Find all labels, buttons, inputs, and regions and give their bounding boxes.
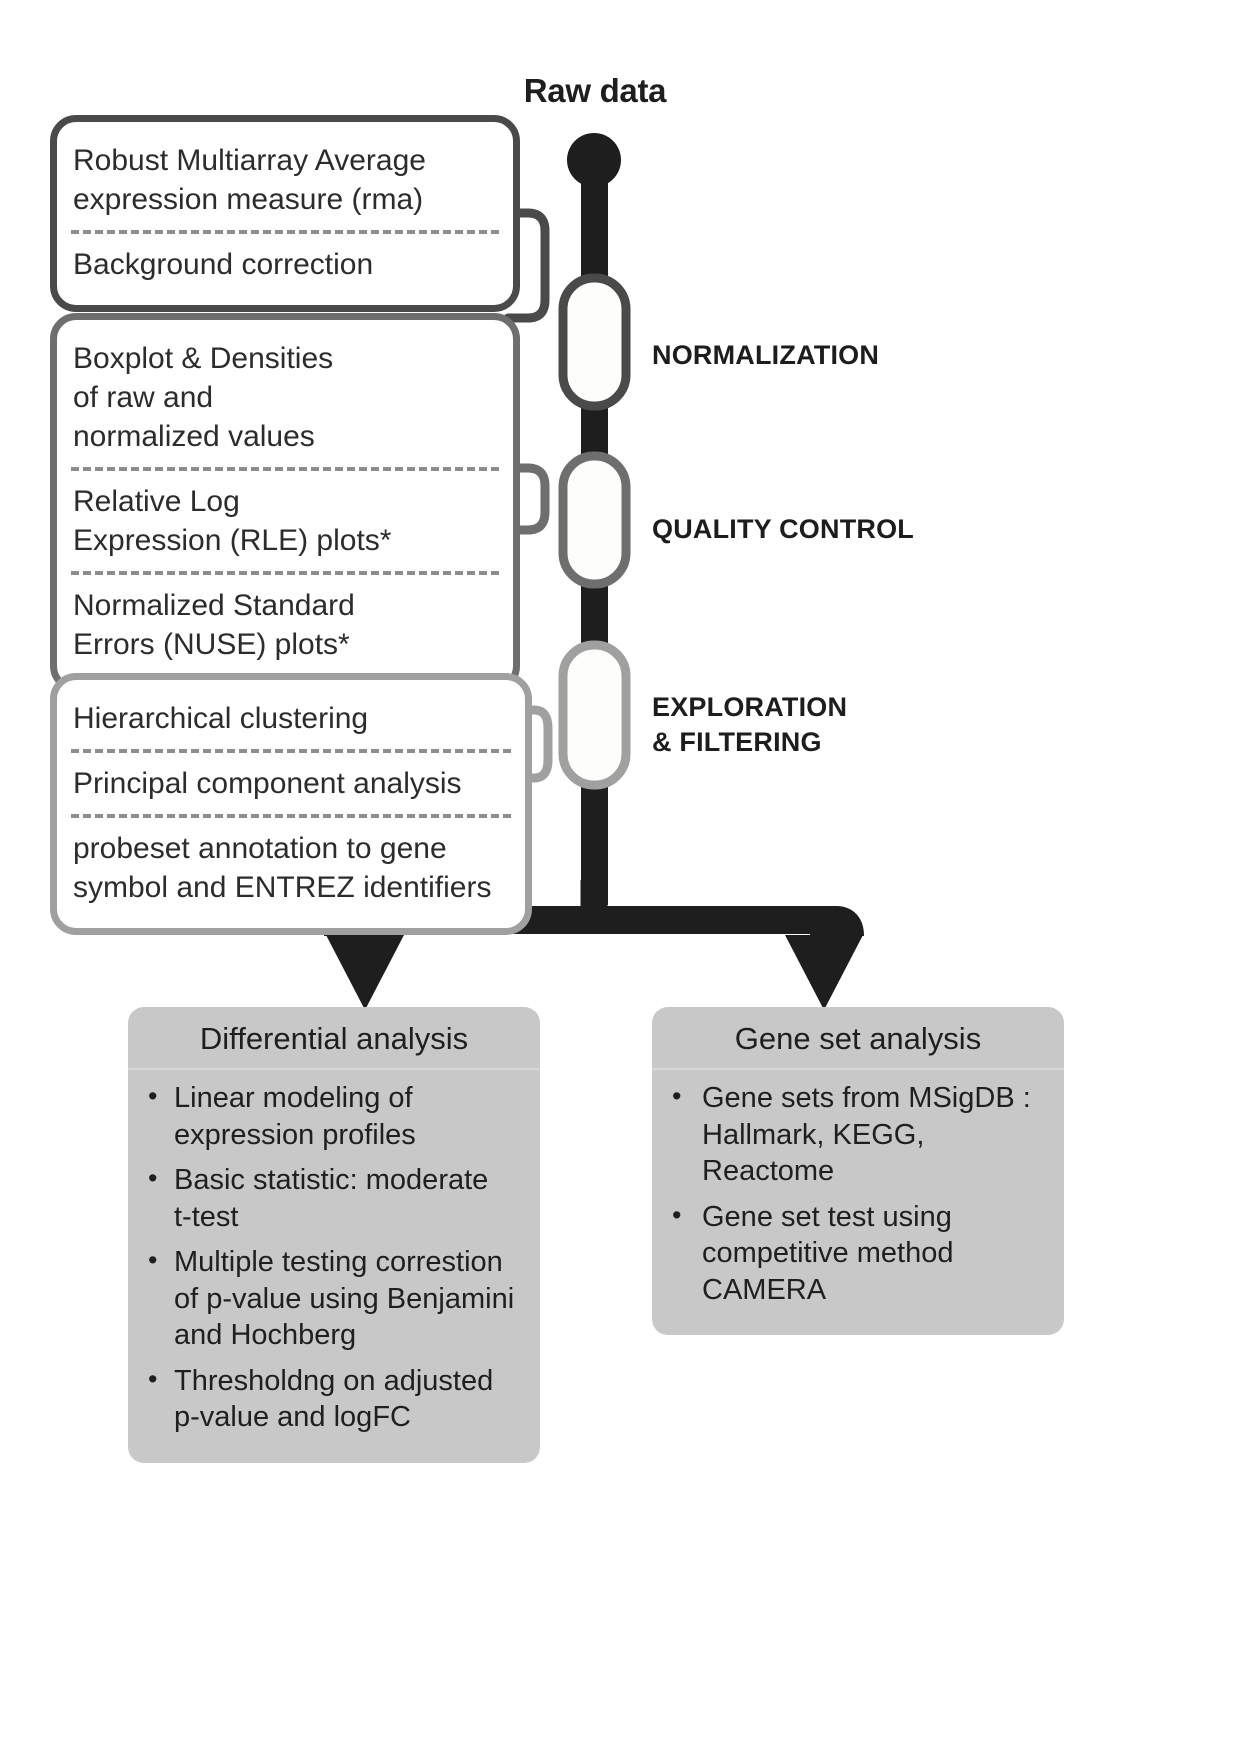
list-item: Basic statistic: moderate t-test [144, 1162, 522, 1244]
list-item: Thresholdng on adjusted p-value and logF… [144, 1363, 522, 1445]
stage-step: Hierarchical clustering [57, 690, 525, 747]
list-item: Gene sets from MSigDB : Hallmark, KEGG, … [668, 1080, 1046, 1199]
stage-label-quality-control: QUALITY CONTROL [652, 512, 914, 547]
step-divider [71, 749, 511, 753]
arrow-to-differential-analysis [326, 935, 404, 1010]
stage-step: Robust Multiarray Average expression mea… [57, 132, 513, 228]
output-panel-gene-set-analysis: Gene set analysis Gene sets from MSigDB … [652, 1007, 1064, 1335]
stage-card-normalization: Robust Multiarray Average expression mea… [50, 115, 520, 312]
arrow-to-gene-set-analysis [785, 935, 863, 1010]
stage-step: Principal component analysis [57, 755, 525, 812]
step-divider [71, 230, 499, 234]
stage-node-normalization [563, 278, 626, 406]
stage-node-quality-control [563, 456, 626, 584]
output-panel-differential-analysis: Differential analysis Linear modeling of… [128, 1007, 540, 1463]
panel-bullet-list: Gene sets from MSigDB : Hallmark, KEGG, … [652, 1070, 1064, 1335]
panel-title: Gene set analysis [652, 1007, 1064, 1070]
workflow-diagram: Raw data Robust Multiarray Average expre… [0, 0, 1240, 1753]
raw-data-node [567, 133, 621, 187]
stage-step: probeset annotation to gene symbol and E… [57, 820, 525, 916]
stage-node-exploration [563, 645, 626, 785]
step-divider [71, 467, 499, 471]
stage-label-normalization: NORMALIZATION [652, 338, 879, 373]
stage-card-exploration: Hierarchical clustering Principal compon… [50, 673, 532, 935]
stage-step: Background correction [57, 236, 513, 293]
stage-label-exploration: EXPLORATION & FILTERING [652, 690, 847, 760]
stage-step: Boxplot & Densities of raw and normalize… [57, 330, 513, 465]
panel-title: Differential analysis [128, 1007, 540, 1070]
page-title: Raw data [460, 72, 730, 110]
list-item: Multiple testing correstion of p-value u… [144, 1244, 522, 1363]
step-divider [71, 814, 511, 818]
panel-bullet-list: Linear modeling of expression profiles B… [128, 1070, 540, 1463]
stage-card-quality-control: Boxplot & Densities of raw and normalize… [50, 313, 520, 692]
list-item: Gene set test using competitive method C… [668, 1199, 1046, 1318]
stage-step: Relative Log Expression (RLE) plots* [57, 473, 513, 569]
step-divider [71, 571, 499, 575]
stage-step: Normalized Standard Errors (NUSE) plots* [57, 577, 513, 673]
list-item: Linear modeling of expression profiles [144, 1080, 522, 1162]
